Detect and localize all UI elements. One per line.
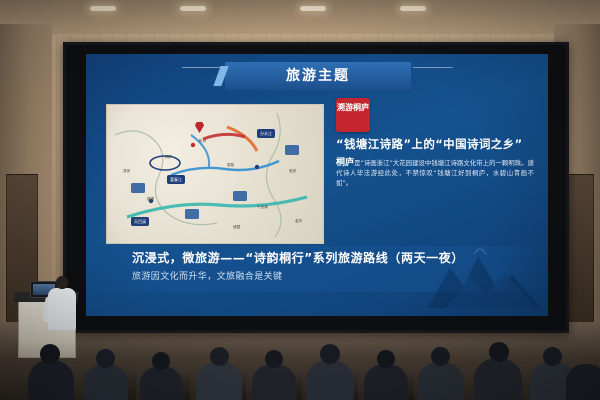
route-map-image: 富春江 分水江 天目溪 杭州 桐庐 富阳 建德 淳安 千岛湖 临安 诸暨 金华 (106, 104, 324, 244)
map-label: 建德 (147, 197, 154, 202)
audience-head (152, 352, 170, 370)
audience-person (140, 366, 182, 400)
audience-person (474, 358, 522, 400)
slide-title-bar: 旅游主题 (225, 62, 411, 90)
ceiling-light (400, 6, 426, 11)
audience-person (252, 364, 296, 400)
slide-body-lead: 桐庐 (336, 158, 354, 168)
audience-head (431, 347, 450, 366)
map-label: 淳安 (123, 169, 130, 174)
audience-head (265, 350, 283, 368)
map-label: 桐庐 (165, 155, 172, 160)
audience-person (566, 364, 600, 400)
ceiling (0, 0, 600, 34)
audience-head (543, 347, 562, 366)
audience-person (196, 362, 242, 400)
map-label: 富阳 (227, 163, 234, 168)
map-chip-label: 分水江 (257, 129, 275, 138)
slide-headline: “钱塘江诗路”上的“中国诗词之乡” (336, 136, 532, 152)
map-label: 诸暨 (233, 225, 240, 230)
brand-stamp: 溯游桐庐 (336, 98, 370, 132)
map-chip-label: 富春江 (167, 175, 185, 184)
slide-bottom-line-2: 旅游因文化而升华，文旅融合是关键 (132, 269, 282, 282)
audience-head (40, 344, 60, 364)
ceiling-light (180, 6, 206, 11)
audience-person (418, 362, 464, 400)
audience-person (84, 364, 128, 400)
ceiling-light (90, 6, 116, 11)
slide-title: 旅游主题 (225, 62, 411, 90)
slide-bottom-line-1: 沉浸式，微旅游——“诗韵桐行”系列旅游路线（两天一夜） (132, 249, 464, 266)
audience-person (306, 360, 354, 400)
audience-head (489, 342, 509, 362)
audience-head (377, 350, 395, 368)
auditorium-photo: 旅游主题 (0, 0, 600, 400)
map-label: 杭州 (199, 139, 206, 144)
ceiling-light (300, 6, 326, 11)
ink-mountain-illustration (424, 234, 544, 312)
slide-body-rest: 是“诗画浙江”大花园建设中钱塘江诗路文化带上的一颗明珠。唐代诗人毕法游经此处，不… (336, 159, 534, 187)
audience-person (28, 360, 74, 400)
slide-body-text: 桐庐是“诗画浙江”大花园建设中钱塘江诗路文化带上的一颗明珠。唐代诗人毕法游经此处… (336, 158, 534, 188)
audience-row (0, 314, 600, 400)
audience-head (320, 344, 340, 364)
title-rule-right (413, 67, 453, 68)
title-rule-left (182, 67, 222, 68)
map-label: 金华 (295, 219, 302, 224)
map-label: 千岛湖 (257, 205, 268, 210)
audience-person (364, 364, 408, 400)
projection-screen: 旅游主题 (63, 42, 569, 333)
audience-head (96, 349, 115, 368)
map-chip-label: 天目溪 (131, 217, 149, 226)
presentation-slide: 旅游主题 (86, 54, 548, 316)
map-label: 临安 (289, 169, 296, 174)
presenter-head (56, 276, 68, 289)
audience-head (210, 347, 229, 366)
